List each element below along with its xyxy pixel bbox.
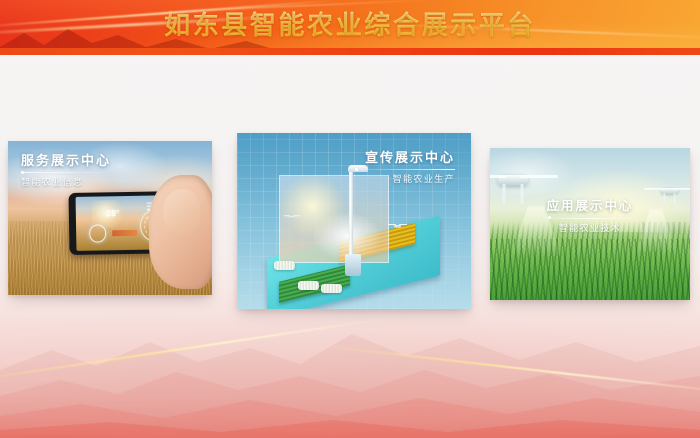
hay-bale xyxy=(321,284,342,293)
card-application-display-center[interactable]: 应用展示中心 智能农业技术 xyxy=(490,148,690,300)
card-caption: 应用展示中心 智能农业技术 xyxy=(490,200,690,233)
drone-icon xyxy=(661,188,678,194)
sensor-pole xyxy=(349,170,353,262)
water-tank xyxy=(345,254,361,275)
card-inner: 28° 服务展示中心 智能农业信息 xyxy=(8,141,212,295)
card-title: 服务展示中心 xyxy=(21,154,111,167)
hud-ring-icon xyxy=(89,224,106,243)
hay-bale xyxy=(274,261,295,270)
card-title: 宣传展示中心 xyxy=(355,151,455,164)
platform-home-page: 如东县智能农业综合展示平台 28° xyxy=(0,0,700,438)
card-caption: 宣传展示中心 智能农业生产 xyxy=(355,151,455,184)
card-inner: 宣传展示中心 智能农业生产 xyxy=(237,133,471,309)
thumb xyxy=(163,189,200,235)
sky-reflection xyxy=(280,176,388,262)
drone-icon xyxy=(498,175,528,186)
card-subtitle: 智能农业生产 xyxy=(355,175,455,184)
hud-label-chip xyxy=(112,230,137,236)
page-title: 如东县智能农业综合展示平台 xyxy=(0,7,700,43)
header-bottom-band xyxy=(0,48,700,55)
card-publicity-display-center[interactable]: 宣传展示中心 智能农业生产 xyxy=(237,133,471,309)
temperature-readout: 28° xyxy=(106,207,120,217)
header-banner: 如东县智能农业综合展示平台 xyxy=(0,0,700,55)
card-subtitle: 智能农业信息 xyxy=(21,178,111,187)
card-caption: 服务展示中心 智能农业信息 xyxy=(21,154,111,187)
card-inner: 应用展示中心 智能农业技术 xyxy=(490,148,690,300)
glass-display-panel xyxy=(279,175,389,263)
hand-holding-phone xyxy=(149,175,212,289)
drone-icon xyxy=(289,216,295,219)
hay-bale xyxy=(298,281,319,290)
caption-divider xyxy=(355,169,455,170)
drone-icon xyxy=(394,225,401,228)
card-title: 应用展示中心 xyxy=(490,200,690,213)
card-service-display-center[interactable]: 28° 服务展示中心 智能农业信息 xyxy=(8,141,212,295)
card-subtitle: 智能农业技术 xyxy=(490,224,690,233)
caption-divider xyxy=(21,172,107,173)
caption-divider xyxy=(542,218,638,219)
